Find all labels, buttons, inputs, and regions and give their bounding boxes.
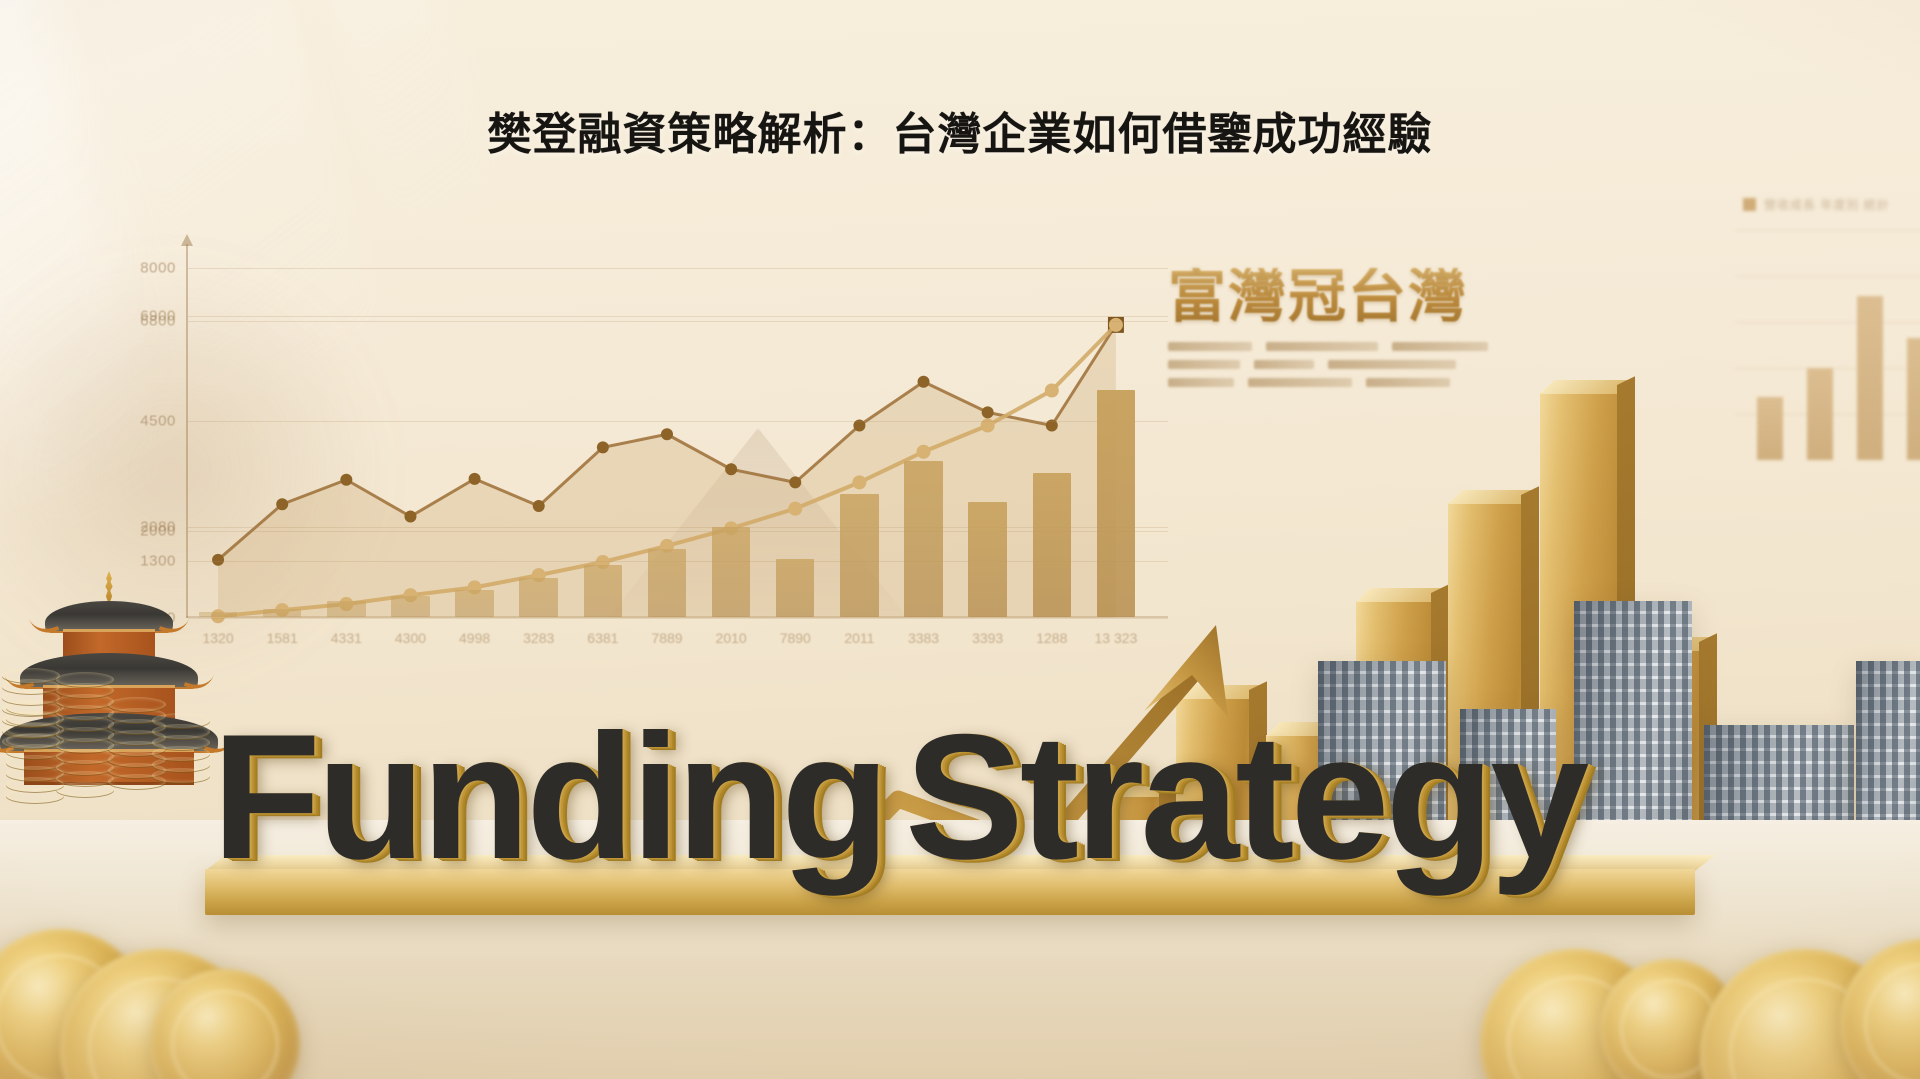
chart-x-tick: 4300 <box>395 630 426 646</box>
chart-bar <box>584 565 622 617</box>
chart-y-tick: 8000 <box>140 260 176 277</box>
chart-bar <box>519 578 557 617</box>
coin <box>2 668 60 683</box>
mini-chart: 營收成長 年度別 統計 <box>1735 230 1920 460</box>
chart-x-tick: 4998 <box>459 630 490 646</box>
chart-x-tick: 4331 <box>331 630 362 646</box>
chart-gridline <box>188 316 1168 317</box>
chart-y-tick: 4500 <box>140 413 176 430</box>
coin-stack <box>152 663 212 783</box>
gold-sign-title: 富灣冠台灣 <box>1168 268 1498 326</box>
chart-x-tick: 3283 <box>523 630 554 646</box>
mini-chart-bar <box>1857 296 1883 460</box>
hero-banner: 8000690068004500208020001300013201581433… <box>0 0 1920 1079</box>
chart-x-tick: 1581 <box>267 630 298 646</box>
chart-gridline <box>188 321 1168 322</box>
hero-word-funding: Funding <box>212 712 886 883</box>
mini-chart-legend: 營收成長 年度別 統計 <box>1743 196 1890 213</box>
chart-gridline <box>188 268 1168 269</box>
chart-bar <box>391 596 429 617</box>
chart-x-tick: 7889 <box>651 630 682 646</box>
chart-bar <box>648 549 686 617</box>
coin-stack <box>2 629 62 749</box>
coin <box>56 672 114 687</box>
chart-bar <box>455 590 493 617</box>
mini-chart-gridline <box>1735 276 1920 277</box>
chart-bar <box>327 601 365 617</box>
hero-word-strategy: Strategy <box>905 712 1585 883</box>
mini-chart-legend-label: 營收成長 年度別 統計 <box>1764 196 1890 213</box>
page-title: 樊登融資策略解析：台灣企業如何借鑒成功經驗 <box>0 98 1920 162</box>
mini-chart-gridline <box>1735 230 1920 231</box>
chart-bar <box>263 609 301 617</box>
chart-y-tick: 2000 <box>140 522 176 539</box>
chart-y-tick: 6800 <box>140 312 176 329</box>
coin <box>152 713 210 728</box>
legend-swatch-icon <box>1743 198 1756 211</box>
coin-stack <box>56 677 116 797</box>
mini-chart-gridline <box>1735 322 1920 323</box>
chart-x-tick: 6381 <box>587 630 618 646</box>
chart-y-tick: 1300 <box>140 553 176 570</box>
